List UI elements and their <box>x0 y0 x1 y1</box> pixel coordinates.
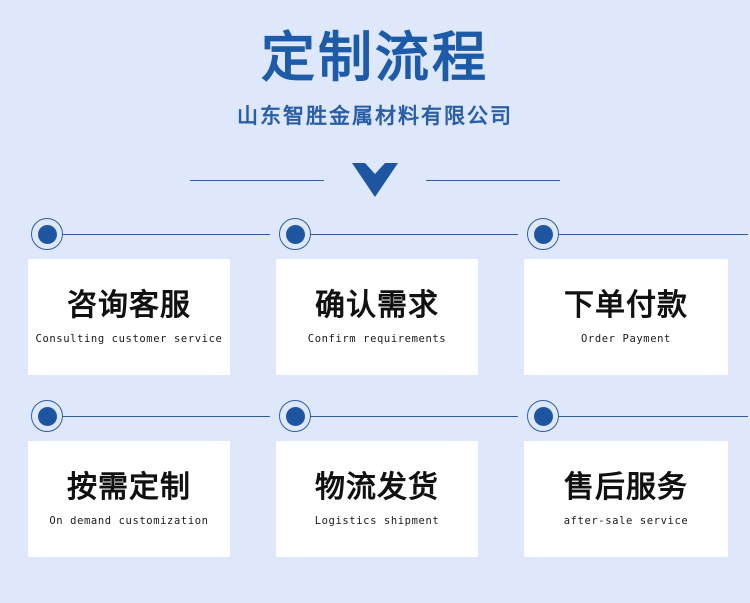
step-title: 确认需求 <box>315 289 439 324</box>
process-step-6[interactable]: 售后服务 after-sale service <box>518 400 750 582</box>
step-card[interactable]: 售后服务 after-sale service <box>524 441 728 557</box>
step-dot-icon <box>31 218 63 250</box>
section-divider <box>0 160 750 200</box>
banner-header: 定制流程 山东智胜金属材料有限公司 <box>0 0 750 130</box>
page-title: 定制流程 <box>0 0 750 88</box>
step-title: 按需定制 <box>67 471 191 506</box>
process-step-5[interactable]: 物流发货 Logistics shipment <box>270 400 518 582</box>
step-subtitle: Confirm requirements <box>308 333 446 345</box>
step-dot-icon <box>279 218 311 250</box>
step-subtitle: after-sale service <box>564 515 689 527</box>
step-dot-icon <box>527 218 559 250</box>
step-title: 物流发货 <box>315 471 439 506</box>
divider-line-right <box>426 180 560 181</box>
divider-line-left <box>190 180 324 181</box>
step-card[interactable]: 物流发货 Logistics shipment <box>276 441 478 557</box>
step-dot-icon <box>279 400 311 432</box>
step-subtitle: Consulting customer service <box>36 333 223 345</box>
process-step-3[interactable]: 下单付款 Order Payment <box>518 218 750 400</box>
step-dot-icon <box>31 400 63 432</box>
connector-line <box>541 234 748 235</box>
step-card[interactable]: 下单付款 Order Payment <box>524 259 728 375</box>
step-subtitle: Logistics shipment <box>315 515 440 527</box>
step-card[interactable]: 按需定制 On demand customization <box>28 441 230 557</box>
step-subtitle: On demand customization <box>49 515 208 527</box>
process-step-2[interactable]: 确认需求 Confirm requirements <box>270 218 518 400</box>
process-step-1[interactable]: 咨询客服 Consulting customer service <box>22 218 270 400</box>
customization-process-banner: 定制流程 山东智胜金属材料有限公司 咨询客服 Consulting custom… <box>0 0 750 603</box>
step-subtitle: Order Payment <box>581 333 671 345</box>
step-card[interactable]: 确认需求 Confirm requirements <box>276 259 478 375</box>
process-steps: 咨询客服 Consulting customer service 确认需求 Co… <box>0 218 750 582</box>
company-name: 山东智胜金属材料有限公司 <box>0 88 750 130</box>
step-title: 咨询客服 <box>67 289 191 324</box>
step-title: 下单付款 <box>564 289 688 324</box>
connector-line <box>45 234 270 235</box>
process-steps-row-1: 咨询客服 Consulting customer service 确认需求 Co… <box>0 218 750 400</box>
connector-line <box>541 416 748 417</box>
step-card[interactable]: 咨询客服 Consulting customer service <box>28 259 230 375</box>
connector-line <box>293 234 518 235</box>
process-step-4[interactable]: 按需定制 On demand customization <box>22 400 270 582</box>
connector-line <box>293 416 518 417</box>
connector-line <box>45 416 270 417</box>
chevron-down-icon <box>352 163 398 197</box>
step-title: 售后服务 <box>564 471 688 506</box>
step-dot-icon <box>527 400 559 432</box>
process-steps-row-2: 按需定制 On demand customization 物流发货 Logist… <box>0 400 750 582</box>
